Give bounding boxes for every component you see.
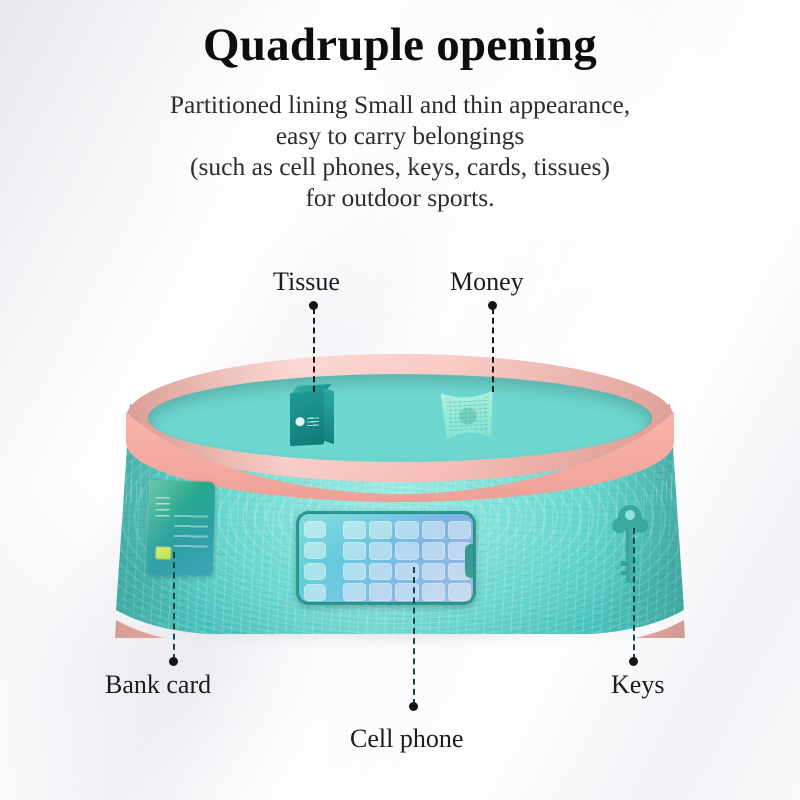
callout-line-cell-phone	[413, 567, 415, 705]
product-infographic: Quadruple opening Partitioned lining Sma…	[0, 0, 800, 800]
money-banknote	[439, 389, 498, 444]
bank-card-gloss	[147, 480, 215, 576]
callout-label-cell-phone: Cell phone	[350, 724, 463, 754]
callout-label-tissue: Tissue	[273, 267, 340, 297]
callout-label-money: Money	[450, 267, 524, 297]
tissue-packet-face	[290, 391, 324, 446]
subcopy-line-1: Partitioned lining Small and thin appear…	[0, 89, 800, 120]
key	[612, 505, 648, 583]
callout-dot-keys	[629, 657, 638, 666]
callout-dot-bank-card	[169, 657, 178, 666]
callout-line-keys	[633, 528, 635, 660]
cell-phone	[296, 511, 476, 605]
subcopy-block: Partitioned lining Small and thin appear…	[0, 89, 800, 213]
callout-line-bank-card	[173, 552, 175, 660]
key-ring-hole	[625, 510, 635, 520]
cell-phone-screen	[299, 514, 473, 602]
subcopy-line-4: for outdoor sports.	[0, 182, 800, 213]
subcopy-line-2: easy to carry belongings	[0, 120, 800, 151]
tissue-packet	[290, 387, 334, 446]
callout-label-keys: Keys	[611, 670, 664, 700]
callout-label-bank-card: Bank card	[105, 670, 211, 700]
bank-card	[147, 480, 215, 576]
tissue-packet-side	[323, 387, 334, 444]
key-tooth	[621, 571, 626, 575]
callout-line-tissue	[313, 308, 315, 392]
headline: Quadruple opening	[0, 18, 800, 72]
callout-dot-tissue	[309, 301, 318, 310]
callout-line-money	[492, 308, 494, 392]
subcopy-line-3: (such as cell phones, keys, cards, tissu…	[0, 151, 800, 182]
callout-dot-cell-phone	[409, 702, 418, 711]
cell-phone-screen-gloss	[299, 514, 473, 602]
tissue-packet-logo	[295, 416, 319, 428]
callout-dot-money	[488, 301, 497, 310]
key-tooth	[621, 561, 627, 566]
